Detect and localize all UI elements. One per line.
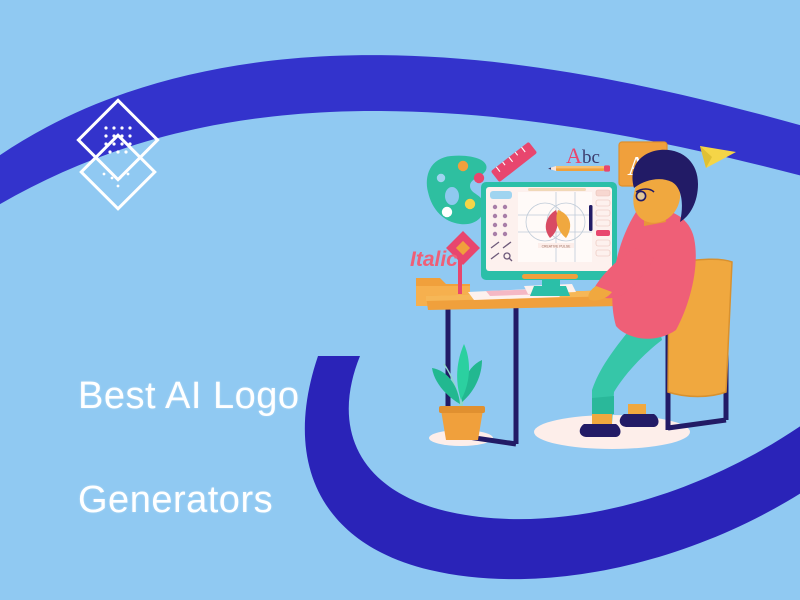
palette-dot-pink (474, 173, 484, 183)
page-title: Best AI Logo Generators (78, 318, 408, 578)
shoe-back (620, 414, 659, 427)
italic-label: Italic (410, 248, 458, 271)
page-title-line-1: Best AI Logo (78, 370, 408, 422)
paper-plane-icon (700, 146, 736, 168)
abc-label: A bc (566, 143, 600, 168)
plant-pot (441, 410, 483, 440)
ruler-icon-upper (491, 142, 537, 183)
poster-canvas: Aa A bc Italic (0, 0, 800, 600)
shoe-front (580, 424, 621, 437)
app-canvas-artwork: CREATIVE PULSE (518, 192, 592, 262)
potted-plant (432, 344, 485, 440)
palette-dot-white (442, 207, 452, 217)
palette-dot-yellow (465, 199, 475, 209)
abc-label-a: A (566, 143, 582, 168)
palette-dot-blue (437, 174, 445, 182)
palette-thumb-hole (445, 187, 459, 205)
page-title-line-2: Generators (78, 474, 408, 526)
abc-label-bc: bc (582, 147, 600, 168)
artist-palette-icon (427, 156, 487, 225)
monitor: CREATIVE PULSE (481, 182, 617, 296)
svg-text:CREATIVE PULSE: CREATIVE PULSE (542, 244, 572, 248)
palette-dot-orange (458, 161, 468, 171)
